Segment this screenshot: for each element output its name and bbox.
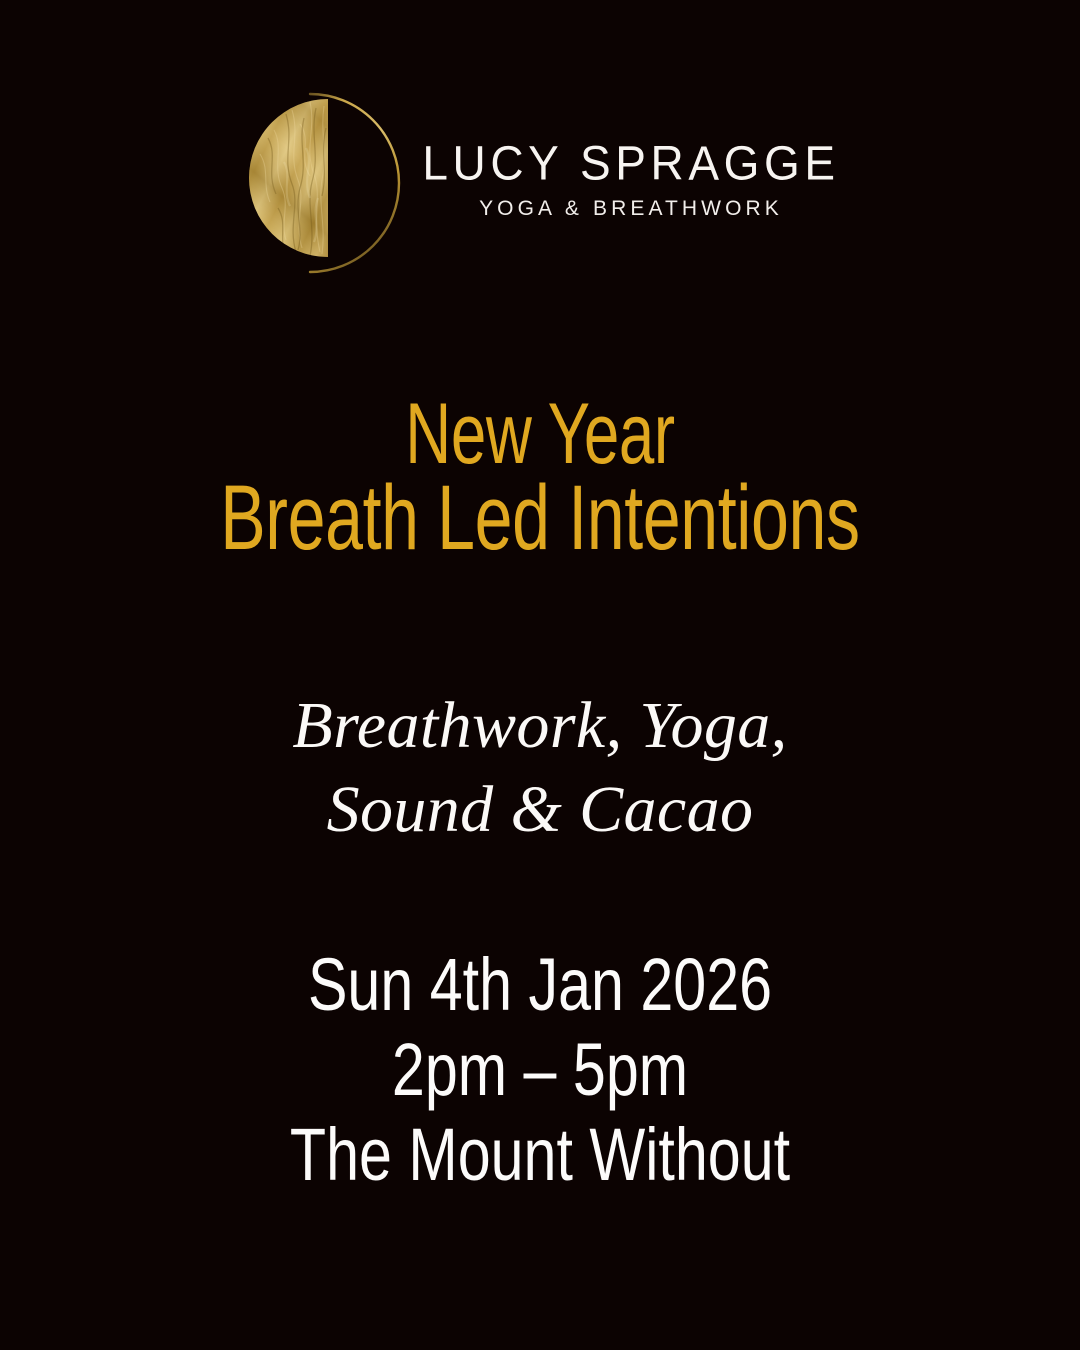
event-poster: LUCY SPRAGGE YOGA & BREATHWORK New Year … xyxy=(0,0,1080,1350)
event-venue: The Mount Without xyxy=(108,1112,972,1197)
event-time: 2pm – 5pm xyxy=(108,1027,972,1112)
brand-tagline: YOGA & BREATHWORK xyxy=(479,196,783,221)
headline-line-1: New Year xyxy=(140,392,939,476)
page-title: New Year Breath Led Intentions xyxy=(140,392,939,560)
modalities-line-2: Sound & Cacao xyxy=(0,768,1080,852)
half-moon-gold-icon xyxy=(240,88,416,278)
modalities-subtitle: Breathwork, Yoga, Sound & Cacao xyxy=(0,684,1080,852)
modalities-line-1: Breathwork, Yoga, xyxy=(0,684,1080,768)
event-details: Sun 4th Jan 2026 2pm – 5pm The Mount Wit… xyxy=(108,942,972,1197)
wordmark: LUCY SPRAGGE YOGA & BREATHWORK xyxy=(422,140,839,225)
headline-line-2: Breath Led Intentions xyxy=(140,476,939,560)
brand-name: LUCY SPRAGGE xyxy=(422,140,839,189)
event-date: Sun 4th Jan 2026 xyxy=(108,942,972,1027)
brand-lockup: LUCY SPRAGGE YOGA & BREATHWORK xyxy=(0,78,1080,288)
